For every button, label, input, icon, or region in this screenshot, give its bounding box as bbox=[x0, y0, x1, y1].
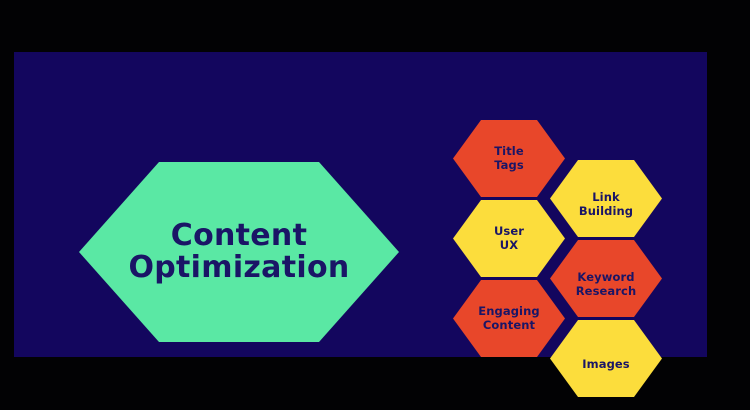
hexagon-images-label: Images bbox=[578, 358, 634, 372]
hexagon-title-tags-label: Title Tags bbox=[490, 145, 528, 172]
hexagon-images[interactable]: Images bbox=[550, 320, 662, 397]
hexagon-keyword-research-label: Keyword Research bbox=[572, 271, 641, 298]
hexagon-keyword-research[interactable]: Keyword Research bbox=[550, 240, 662, 317]
diagram-canvas: Content Optimization Title Tags Link Bui… bbox=[14, 52, 707, 357]
slide-root: Content Optimization Title Tags Link Bui… bbox=[0, 0, 750, 410]
main-hexagon-label: Content Optimization bbox=[122, 220, 355, 284]
hexagon-title-tags[interactable]: Title Tags bbox=[453, 120, 565, 197]
hexagon-user-ux[interactable]: User UX bbox=[453, 200, 565, 277]
hexagon-engaging-content[interactable]: Engaging Content bbox=[453, 280, 565, 357]
hexagon-engaging-content-label: Engaging Content bbox=[474, 305, 543, 332]
hexagon-link-building-label: Link Building bbox=[575, 191, 637, 218]
main-hexagon-content-optimization[interactable]: Content Optimization bbox=[79, 162, 399, 342]
hexagon-user-ux-label: User UX bbox=[490, 225, 528, 252]
hexagon-link-building[interactable]: Link Building bbox=[550, 160, 662, 237]
